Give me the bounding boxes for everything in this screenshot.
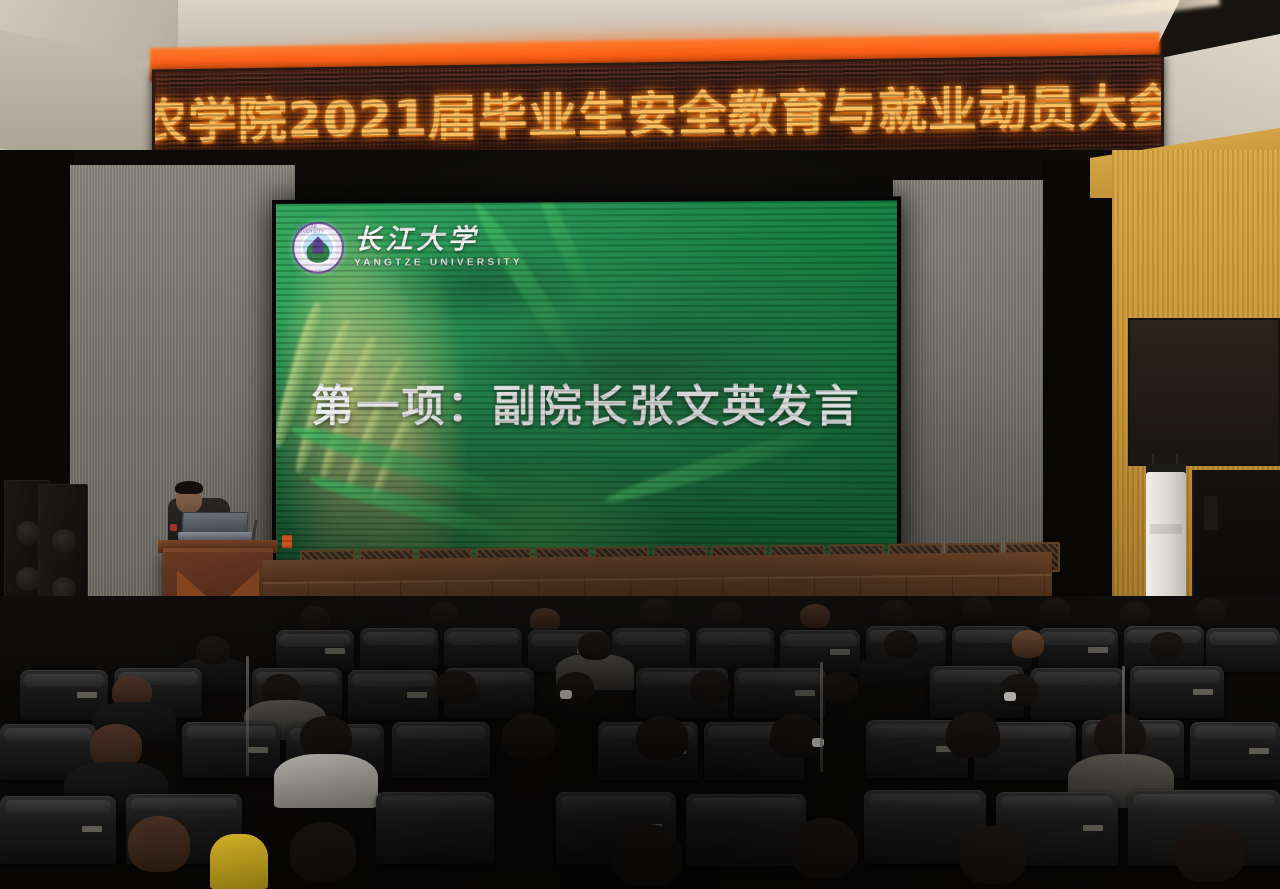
seat — [1190, 722, 1280, 780]
seat — [686, 794, 806, 866]
led-banner: 农学院2021届毕业生安全教育与就业动员大会 — [152, 54, 1164, 165]
audience-head — [1120, 602, 1150, 626]
presenter-hair — [175, 481, 203, 494]
audience-head — [612, 824, 682, 886]
seat — [0, 796, 116, 864]
audience-head — [196, 636, 230, 664]
audience-head — [636, 716, 688, 760]
audience-area — [0, 596, 1280, 889]
audience-head — [436, 670, 476, 704]
led-banner-text: 农学院2021届毕业生安全教育与就业动员大会 — [152, 67, 1164, 152]
audience-head — [770, 714, 822, 758]
audience-head — [946, 712, 1000, 758]
audience-head — [712, 602, 742, 626]
audience-head — [502, 714, 556, 760]
speaker-cone-icon — [52, 529, 76, 553]
audience-head — [290, 822, 356, 882]
audience-head — [1040, 598, 1070, 622]
audience-head — [1176, 822, 1244, 882]
projection-screen-frame: YANGTZE UNIVERSITY 长江大学 YANGTZE UNIVERSI… — [272, 196, 901, 591]
seat — [1038, 628, 1118, 672]
projection-screen: YANGTZE UNIVERSITY 长江大学 YANGTZE UNIVERSI… — [276, 200, 897, 587]
air-conditioner-unit — [1146, 472, 1186, 602]
audience-head — [1000, 674, 1038, 706]
audience-head — [960, 826, 1026, 884]
audience-head — [790, 818, 858, 878]
audience-head — [800, 604, 830, 628]
audience-head — [1196, 598, 1226, 622]
audience-head — [1150, 632, 1184, 660]
audience-head — [962, 596, 992, 620]
seat — [1030, 668, 1124, 720]
screen-scanline-overlay — [276, 200, 897, 587]
audience-head — [640, 598, 672, 624]
auditorium-photo: 农学院2021届毕业生安全教育与就业动员大会 — [0, 0, 1280, 889]
seat — [376, 792, 494, 864]
seat — [348, 670, 438, 720]
audience-head — [300, 606, 330, 630]
audience-head — [820, 672, 858, 704]
seat — [444, 628, 522, 670]
seat — [696, 628, 774, 670]
audience-head — [880, 600, 912, 626]
speaker-cone-icon — [16, 567, 40, 591]
seat — [734, 668, 826, 718]
dark-acoustic-panel-right — [1128, 318, 1280, 466]
audience-head — [128, 816, 190, 872]
audience-head — [530, 608, 560, 632]
audience-head — [690, 670, 730, 704]
seat — [182, 722, 280, 778]
presenter-badge — [170, 524, 177, 531]
audience-head — [430, 602, 458, 624]
audience-head — [578, 632, 612, 660]
laptop-lid — [181, 512, 248, 534]
speaker-cone-icon — [16, 521, 40, 545]
audience-head — [1012, 630, 1044, 658]
seat — [1130, 666, 1224, 718]
audience-head — [556, 672, 594, 704]
laptop-base — [178, 532, 252, 540]
seat — [276, 630, 354, 672]
audience-head — [1094, 714, 1146, 758]
seat — [360, 628, 438, 670]
seat — [392, 722, 490, 778]
audience-head — [884, 630, 918, 658]
